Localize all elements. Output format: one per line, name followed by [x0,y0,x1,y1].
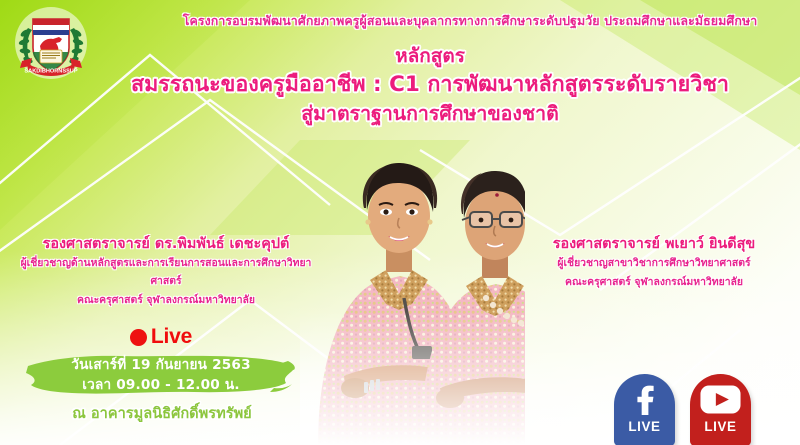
speaker-role: ผู้เชี่ยวชาญสาขาวิชาการศึกษาวิทยาศาสตร์ [508,254,800,272]
speaker-block-right: รองศาสตราจารย์ พเยาว์ ยินดีสุข ผู้เชี่ยว… [508,234,800,291]
youtube-icon [700,381,741,418]
venue-text: ณ อาคารมูลนิธิศักดิ์พรทรัพย์ [22,404,302,424]
course-main-title: สมรรถนะของครูมืออาชีพ : C1 การพัฒนาหลักส… [60,70,800,100]
record-dot-icon [130,329,147,346]
speaker-organization: คณะครุศาสตร์ จุฬาลงกรณ์มหาวิทยาลัย [6,291,326,309]
speaker-block-left: รองศาสตราจารย์ ดร.พิมพันธ์ เดชะคุปต์ ผู้… [6,234,326,309]
facebook-icon [633,381,656,418]
youtube-live-badge[interactable]: LIVE [690,374,751,445]
speaker-organization: คณะครุศาสตร์ จุฬาลงกรณ์มหาวิทยาลัย [508,273,800,291]
facebook-live-label: LIVE [628,419,660,434]
schedule-date: วันเสาร์ที่ 19 กันยายน 2563 [71,356,251,375]
course-label: หลักสูตร [60,44,800,68]
schedule-text-group: วันเสาร์ที่ 19 กันยายน 2563 เวลา 09.00 -… [24,352,298,398]
speaker-role: ผู้เชี่ยวชาญด้านหลักสูตรและการเรียนการสอ… [6,254,326,290]
speakers-photo [300,148,525,445]
facebook-live-badge[interactable]: LIVE [614,374,675,445]
schedule-time: เวลา 09.00 - 12.00 น. [82,376,239,395]
speaker-name: รองศาสตราจารย์ พเยาว์ ยินดีสุข [508,234,800,254]
youtube-live-label: LIVE [704,419,736,434]
project-header-title: โครงการอบรมพัฒนาศักยภาพครูผู้สอนและบุคลา… [146,12,794,31]
live-indicator: Live [36,324,286,350]
poster-canvas: SAKDIBHORNSSUP โครงการอบรมพัฒนาศักยภาพคร… [0,0,800,445]
live-label: Live [151,325,192,349]
course-sub-title: สู่มาตราฐานการศึกษาของชาติ [60,100,800,127]
speaker-name: รองศาสตราจารย์ ดร.พิมพันธ์ เดชะคุปต์ [6,234,326,254]
course-title-block: หลักสูตร สมรรถนะของครูมืออาชีพ : C1 การพ… [60,44,800,127]
